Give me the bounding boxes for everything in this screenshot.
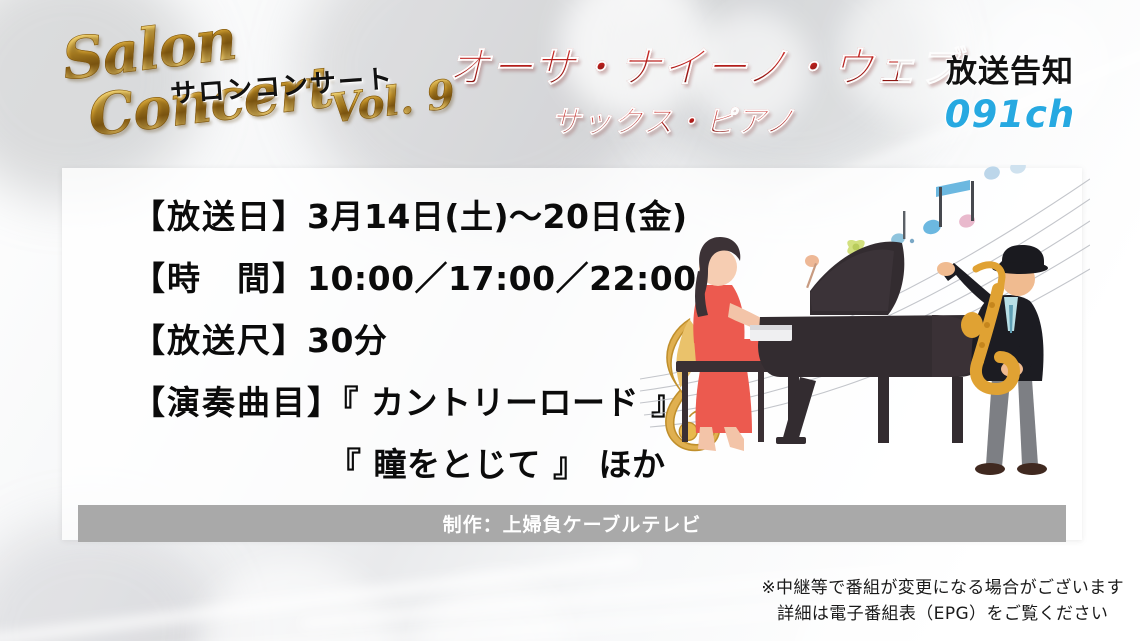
- info-value: 30分: [307, 321, 387, 360]
- performer-name: オーサ・ナイーノ・ウェブ: [448, 34, 898, 95]
- disclaimer-line-1: ※中継等で番組が変更になる場合がございます: [761, 575, 1124, 601]
- concert-illustration: [640, 165, 1090, 495]
- channel-number: 091ch: [910, 93, 1110, 136]
- info-label: 【時 間】: [132, 259, 307, 298]
- performer-title: オーサ・ナイーノ・ウェブ サックス・ピアノ: [448, 34, 898, 141]
- illustration-svg: [640, 165, 1090, 495]
- info-label: 【放送尺】: [132, 321, 307, 360]
- header-band: Salon Concert Vol. 9 サロンコンサート オーサ・ナイーノ・ウ…: [0, 0, 1140, 165]
- info-value: 『 瞳をとじて 』 ほか: [328, 445, 665, 484]
- info-value: 『 カントリーロード 』: [342, 383, 684, 422]
- info-value: 3月14日(土)〜20日(金): [307, 197, 688, 236]
- info-label: 【放送日】: [132, 197, 307, 236]
- footer-disclaimer: ※中継等で番組が変更になる場合がございます 詳細は電子番組表（EPG）をご覧くだ…: [761, 575, 1124, 627]
- performer-instruments: サックス・ピアノ: [448, 97, 898, 141]
- production-credit-bar: 制作：上婦負ケーブルテレビ: [78, 505, 1066, 542]
- salon-concert-logo: Salon Concert Vol. 9 サロンコンサート: [54, 14, 474, 142]
- broadcast-channel-block: 放送告知 091ch: [910, 46, 1110, 136]
- broadcast-notice-label: 放送告知: [910, 46, 1110, 91]
- info-label: 【演奏曲目】: [132, 383, 342, 422]
- production-credit-text: 制作：上婦負ケーブルテレビ: [443, 510, 702, 537]
- info-value: 10:00／17:00／22:00: [307, 259, 697, 298]
- disclaimer-line-2: 詳細は電子番組表（EPG）をご覧ください: [761, 601, 1124, 627]
